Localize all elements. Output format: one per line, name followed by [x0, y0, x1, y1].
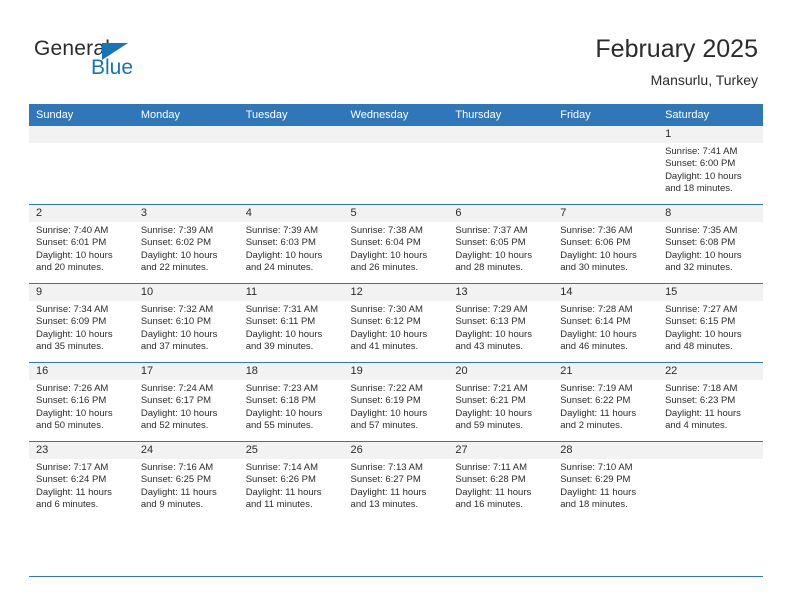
weekday-header-thursday: Thursday — [448, 104, 553, 126]
daylight-text-line1: Daylight: 10 hours — [560, 250, 652, 262]
day-number: 9 — [29, 284, 134, 301]
day-details: Sunrise: 7:29 AMSunset: 6:13 PMDaylight:… — [448, 301, 553, 354]
day-cell-inner — [448, 126, 553, 204]
sunrise-text: Sunrise: 7:19 AM — [560, 383, 652, 395]
calendar-week-row: 23Sunrise: 7:17 AMSunset: 6:24 PMDayligh… — [29, 442, 763, 521]
sunrise-text: Sunrise: 7:26 AM — [36, 383, 128, 395]
calendar-day-cell[interactable]: 4Sunrise: 7:39 AMSunset: 6:03 PMDaylight… — [239, 205, 344, 284]
daylight-text-line1: Daylight: 10 hours — [455, 408, 547, 420]
sunrise-text: Sunrise: 7:38 AM — [351, 225, 443, 237]
sunrise-text: Sunrise: 7:39 AM — [246, 225, 338, 237]
calendar-day-cell[interactable]: 11Sunrise: 7:31 AMSunset: 6:11 PMDayligh… — [239, 284, 344, 363]
day-number: 2 — [29, 205, 134, 222]
day-cell-inner: 13Sunrise: 7:29 AMSunset: 6:13 PMDayligh… — [448, 284, 553, 362]
day-details: Sunrise: 7:23 AMSunset: 6:18 PMDaylight:… — [239, 380, 344, 433]
daylight-text-line2: and 24 minutes. — [246, 262, 338, 274]
sunrise-text: Sunrise: 7:10 AM — [560, 462, 652, 474]
day-details: Sunrise: 7:36 AMSunset: 6:06 PMDaylight:… — [553, 222, 658, 275]
daylight-text-line1: Daylight: 10 hours — [665, 329, 757, 341]
daylight-text-line2: and 20 minutes. — [36, 262, 128, 274]
weekday-header-wednesday: Wednesday — [344, 104, 449, 126]
weekday-header-monday: Monday — [134, 104, 239, 126]
sunrise-text: Sunrise: 7:17 AM — [36, 462, 128, 474]
weekday-header-tuesday: Tuesday — [239, 104, 344, 126]
calendar-day-cell[interactable]: 15Sunrise: 7:27 AMSunset: 6:15 PMDayligh… — [658, 284, 763, 363]
sunset-text: Sunset: 6:17 PM — [141, 395, 233, 407]
day-cell-inner: 23Sunrise: 7:17 AMSunset: 6:24 PMDayligh… — [29, 442, 134, 520]
daylight-text-line2: and 9 minutes. — [141, 499, 233, 511]
day-cell-inner: 7Sunrise: 7:36 AMSunset: 6:06 PMDaylight… — [553, 205, 658, 283]
calendar-week-row: 9Sunrise: 7:34 AMSunset: 6:09 PMDaylight… — [29, 284, 763, 363]
day-cell-inner: 15Sunrise: 7:27 AMSunset: 6:15 PMDayligh… — [658, 284, 763, 362]
sunrise-text: Sunrise: 7:34 AM — [36, 304, 128, 316]
sunset-text: Sunset: 6:09 PM — [36, 316, 128, 328]
calendar-day-cell[interactable]: 22Sunrise: 7:18 AMSunset: 6:23 PMDayligh… — [658, 363, 763, 442]
calendar-day-cell[interactable]: 10Sunrise: 7:32 AMSunset: 6:10 PMDayligh… — [134, 284, 239, 363]
daylight-text-line2: and 16 minutes. — [455, 499, 547, 511]
calendar-day-cell[interactable]: 7Sunrise: 7:36 AMSunset: 6:06 PMDaylight… — [553, 205, 658, 284]
sunset-text: Sunset: 6:02 PM — [141, 237, 233, 249]
daylight-text-line1: Daylight: 10 hours — [351, 250, 443, 262]
sunrise-text: Sunrise: 7:13 AM — [351, 462, 443, 474]
day-details: Sunrise: 7:24 AMSunset: 6:17 PMDaylight:… — [134, 380, 239, 433]
weekday-header-saturday: Saturday — [658, 104, 763, 126]
sunset-text: Sunset: 6:04 PM — [351, 237, 443, 249]
sunrise-text: Sunrise: 7:18 AM — [665, 383, 757, 395]
daylight-text-line1: Daylight: 11 hours — [36, 487, 128, 499]
day-details: Sunrise: 7:19 AMSunset: 6:22 PMDaylight:… — [553, 380, 658, 433]
day-number — [134, 126, 239, 143]
sunset-text: Sunset: 6:16 PM — [36, 395, 128, 407]
daylight-text-line2: and 50 minutes. — [36, 420, 128, 432]
day-cell-inner: 12Sunrise: 7:30 AMSunset: 6:12 PMDayligh… — [344, 284, 449, 362]
sunset-text: Sunset: 6:28 PM — [455, 474, 547, 486]
daylight-text-line2: and 35 minutes. — [36, 341, 128, 353]
day-cell-inner: 18Sunrise: 7:23 AMSunset: 6:18 PMDayligh… — [239, 363, 344, 441]
day-details: Sunrise: 7:16 AMSunset: 6:25 PMDaylight:… — [134, 459, 239, 512]
calendar-day-cell[interactable]: 13Sunrise: 7:29 AMSunset: 6:13 PMDayligh… — [448, 284, 553, 363]
sunset-text: Sunset: 6:25 PM — [141, 474, 233, 486]
day-number: 12 — [344, 284, 449, 301]
calendar-header-row: Sunday Monday Tuesday Wednesday Thursday… — [29, 104, 763, 126]
sunrise-text: Sunrise: 7:16 AM — [141, 462, 233, 474]
day-details: Sunrise: 7:28 AMSunset: 6:14 PMDaylight:… — [553, 301, 658, 354]
calendar-day-cell[interactable]: 2Sunrise: 7:40 AMSunset: 6:01 PMDaylight… — [29, 205, 134, 284]
day-details: Sunrise: 7:18 AMSunset: 6:23 PMDaylight:… — [658, 380, 763, 433]
day-number — [448, 126, 553, 143]
calendar-day-cell[interactable]: 24Sunrise: 7:16 AMSunset: 6:25 PMDayligh… — [134, 442, 239, 521]
daylight-text-line2: and 4 minutes. — [665, 420, 757, 432]
sunrise-text: Sunrise: 7:39 AM — [141, 225, 233, 237]
calendar-week-row: 2Sunrise: 7:40 AMSunset: 6:01 PMDaylight… — [29, 205, 763, 284]
calendar-day-cell[interactable]: 28Sunrise: 7:10 AMSunset: 6:29 PMDayligh… — [553, 442, 658, 521]
weekday-header-sunday: Sunday — [29, 104, 134, 126]
daylight-text-line2: and 22 minutes. — [141, 262, 233, 274]
calendar-day-cell-empty — [239, 126, 344, 205]
daylight-text-line2: and 41 minutes. — [351, 341, 443, 353]
day-details: Sunrise: 7:26 AMSunset: 6:16 PMDaylight:… — [29, 380, 134, 433]
calendar-bottom-rule — [29, 576, 763, 577]
daylight-text-line1: Daylight: 10 hours — [36, 250, 128, 262]
day-cell-inner: 16Sunrise: 7:26 AMSunset: 6:16 PMDayligh… — [29, 363, 134, 441]
day-number — [29, 126, 134, 143]
day-cell-inner: 27Sunrise: 7:11 AMSunset: 6:28 PMDayligh… — [448, 442, 553, 520]
day-details: Sunrise: 7:34 AMSunset: 6:09 PMDaylight:… — [29, 301, 134, 354]
day-cell-inner: 2Sunrise: 7:40 AMSunset: 6:01 PMDaylight… — [29, 205, 134, 283]
daylight-text-line2: and 18 minutes. — [665, 183, 757, 195]
day-cell-inner: 3Sunrise: 7:39 AMSunset: 6:02 PMDaylight… — [134, 205, 239, 283]
day-number: 28 — [553, 442, 658, 459]
daylight-text-line1: Daylight: 11 hours — [560, 408, 652, 420]
daylight-text-line2: and 46 minutes. — [560, 341, 652, 353]
day-cell-inner: 5Sunrise: 7:38 AMSunset: 6:04 PMDaylight… — [344, 205, 449, 283]
day-cell-inner: 22Sunrise: 7:18 AMSunset: 6:23 PMDayligh… — [658, 363, 763, 441]
sunrise-text: Sunrise: 7:32 AM — [141, 304, 233, 316]
day-cell-inner: 24Sunrise: 7:16 AMSunset: 6:25 PMDayligh… — [134, 442, 239, 520]
day-cell-inner: 8Sunrise: 7:35 AMSunset: 6:08 PMDaylight… — [658, 205, 763, 283]
daylight-text-line2: and 57 minutes. — [351, 420, 443, 432]
sunrise-text: Sunrise: 7:40 AM — [36, 225, 128, 237]
daylight-text-line1: Daylight: 11 hours — [455, 487, 547, 499]
calendar-body: 1Sunrise: 7:41 AMSunset: 6:00 PMDaylight… — [29, 126, 763, 520]
day-cell-inner — [344, 126, 449, 204]
day-number: 1 — [658, 126, 763, 143]
calendar-day-cell[interactable]: 27Sunrise: 7:11 AMSunset: 6:28 PMDayligh… — [448, 442, 553, 521]
daylight-text-line1: Daylight: 10 hours — [141, 408, 233, 420]
sunset-text: Sunset: 6:14 PM — [560, 316, 652, 328]
daylight-text-line1: Daylight: 10 hours — [351, 408, 443, 420]
day-number: 26 — [344, 442, 449, 459]
day-number: 19 — [344, 363, 449, 380]
day-details: Sunrise: 7:21 AMSunset: 6:21 PMDaylight:… — [448, 380, 553, 433]
calendar-day-cell-empty — [553, 126, 658, 205]
day-details: Sunrise: 7:17 AMSunset: 6:24 PMDaylight:… — [29, 459, 134, 512]
page-subtitle-location: Mansurlu, Turkey — [595, 70, 758, 90]
sunrise-text: Sunrise: 7:11 AM — [455, 462, 547, 474]
day-details: Sunrise: 7:14 AMSunset: 6:26 PMDaylight:… — [239, 459, 344, 512]
day-number: 24 — [134, 442, 239, 459]
daylight-text-line2: and 26 minutes. — [351, 262, 443, 274]
day-number: 25 — [239, 442, 344, 459]
sunrise-text: Sunrise: 7:23 AM — [246, 383, 338, 395]
daylight-text-line2: and 37 minutes. — [141, 341, 233, 353]
daylight-text-line1: Daylight: 10 hours — [246, 329, 338, 341]
calendar-day-cell[interactable]: 18Sunrise: 7:23 AMSunset: 6:18 PMDayligh… — [239, 363, 344, 442]
sunrise-text: Sunrise: 7:37 AM — [455, 225, 547, 237]
day-number — [344, 126, 449, 143]
daylight-text-line1: Daylight: 10 hours — [665, 250, 757, 262]
daylight-text-line2: and 6 minutes. — [36, 499, 128, 511]
daylight-text-line1: Daylight: 10 hours — [351, 329, 443, 341]
sunset-text: Sunset: 6:06 PM — [560, 237, 652, 249]
day-details: Sunrise: 7:41 AMSunset: 6:00 PMDaylight:… — [658, 143, 763, 196]
day-number: 16 — [29, 363, 134, 380]
sunset-text: Sunset: 6:27 PM — [351, 474, 443, 486]
day-cell-inner: 28Sunrise: 7:10 AMSunset: 6:29 PMDayligh… — [553, 442, 658, 520]
day-number — [553, 126, 658, 143]
sunrise-text: Sunrise: 7:21 AM — [455, 383, 547, 395]
daylight-text-line2: and 30 minutes. — [560, 262, 652, 274]
sunset-text: Sunset: 6:26 PM — [246, 474, 338, 486]
sunset-text: Sunset: 6:22 PM — [560, 395, 652, 407]
daylight-text-line1: Daylight: 10 hours — [560, 329, 652, 341]
calendar-day-cell[interactable]: 9Sunrise: 7:34 AMSunset: 6:09 PMDaylight… — [29, 284, 134, 363]
day-number: 8 — [658, 205, 763, 222]
sunrise-text: Sunrise: 7:22 AM — [351, 383, 443, 395]
day-number: 10 — [134, 284, 239, 301]
day-details: Sunrise: 7:22 AMSunset: 6:19 PMDaylight:… — [344, 380, 449, 433]
calendar-week-row: 16Sunrise: 7:26 AMSunset: 6:16 PMDayligh… — [29, 363, 763, 442]
day-details: Sunrise: 7:37 AMSunset: 6:05 PMDaylight:… — [448, 222, 553, 275]
day-number: 4 — [239, 205, 344, 222]
day-details: Sunrise: 7:31 AMSunset: 6:11 PMDaylight:… — [239, 301, 344, 354]
day-details: Sunrise: 7:38 AMSunset: 6:04 PMDaylight:… — [344, 222, 449, 275]
sunset-text: Sunset: 6:15 PM — [665, 316, 757, 328]
logo-text-blue: Blue — [91, 57, 133, 79]
day-cell-inner — [134, 126, 239, 204]
sunrise-text: Sunrise: 7:41 AM — [665, 146, 757, 158]
sunset-text: Sunset: 6:11 PM — [246, 316, 338, 328]
sunrise-text: Sunrise: 7:35 AM — [665, 225, 757, 237]
daylight-text-line1: Daylight: 10 hours — [141, 329, 233, 341]
calendar-day-cell[interactable]: 1Sunrise: 7:41 AMSunset: 6:00 PMDaylight… — [658, 126, 763, 205]
day-details: Sunrise: 7:32 AMSunset: 6:10 PMDaylight:… — [134, 301, 239, 354]
daylight-text-line1: Daylight: 11 hours — [665, 408, 757, 420]
sunset-text: Sunset: 6:21 PM — [455, 395, 547, 407]
day-details: Sunrise: 7:39 AMSunset: 6:03 PMDaylight:… — [239, 222, 344, 275]
day-number: 6 — [448, 205, 553, 222]
sunset-text: Sunset: 6:13 PM — [455, 316, 547, 328]
day-number: 7 — [553, 205, 658, 222]
calendar-day-cell-empty — [29, 126, 134, 205]
calendar-day-cell[interactable]: 16Sunrise: 7:26 AMSunset: 6:16 PMDayligh… — [29, 363, 134, 442]
sunset-text: Sunset: 6:08 PM — [665, 237, 757, 249]
day-number: 15 — [658, 284, 763, 301]
day-details: Sunrise: 7:11 AMSunset: 6:28 PMDaylight:… — [448, 459, 553, 512]
day-cell-inner: 19Sunrise: 7:22 AMSunset: 6:19 PMDayligh… — [344, 363, 449, 441]
weekday-header-friday: Friday — [553, 104, 658, 126]
day-details: Sunrise: 7:39 AMSunset: 6:02 PMDaylight:… — [134, 222, 239, 275]
day-number: 14 — [553, 284, 658, 301]
daylight-text-line2: and 48 minutes. — [665, 341, 757, 353]
day-details: Sunrise: 7:10 AMSunset: 6:29 PMDaylight:… — [553, 459, 658, 512]
daylight-text-line1: Daylight: 11 hours — [246, 487, 338, 499]
daylight-text-line1: Daylight: 10 hours — [455, 329, 547, 341]
sunrise-text: Sunrise: 7:29 AM — [455, 304, 547, 316]
day-cell-inner: 10Sunrise: 7:32 AMSunset: 6:10 PMDayligh… — [134, 284, 239, 362]
daylight-text-line1: Daylight: 10 hours — [665, 171, 757, 183]
calendar-day-cell[interactable]: 8Sunrise: 7:35 AMSunset: 6:08 PMDaylight… — [658, 205, 763, 284]
calendar-day-cell[interactable]: 6Sunrise: 7:37 AMSunset: 6:05 PMDaylight… — [448, 205, 553, 284]
daylight-text-line1: Daylight: 10 hours — [36, 408, 128, 420]
daylight-text-line1: Daylight: 11 hours — [141, 487, 233, 499]
sunrise-text: Sunrise: 7:31 AM — [246, 304, 338, 316]
daylight-text-line2: and 13 minutes. — [351, 499, 443, 511]
day-number: 3 — [134, 205, 239, 222]
sunset-text: Sunset: 6:10 PM — [141, 316, 233, 328]
daylight-text-line1: Daylight: 10 hours — [455, 250, 547, 262]
day-number: 22 — [658, 363, 763, 380]
day-cell-inner — [29, 126, 134, 204]
day-number: 11 — [239, 284, 344, 301]
day-cell-inner — [658, 442, 763, 520]
day-cell-inner — [239, 126, 344, 204]
calendar-day-cell[interactable]: 5Sunrise: 7:38 AMSunset: 6:04 PMDaylight… — [344, 205, 449, 284]
day-number: 21 — [553, 363, 658, 380]
day-number — [239, 126, 344, 143]
day-details: Sunrise: 7:35 AMSunset: 6:08 PMDaylight:… — [658, 222, 763, 275]
daylight-text-line2: and 55 minutes. — [246, 420, 338, 432]
day-cell-inner: 25Sunrise: 7:14 AMSunset: 6:26 PMDayligh… — [239, 442, 344, 520]
sunset-text: Sunset: 6:00 PM — [665, 158, 757, 170]
day-cell-inner: 20Sunrise: 7:21 AMSunset: 6:21 PMDayligh… — [448, 363, 553, 441]
sunrise-text: Sunrise: 7:36 AM — [560, 225, 652, 237]
calendar-day-cell[interactable]: 14Sunrise: 7:28 AMSunset: 6:14 PMDayligh… — [553, 284, 658, 363]
day-cell-inner: 4Sunrise: 7:39 AMSunset: 6:03 PMDaylight… — [239, 205, 344, 283]
calendar-page: General Blue February 2025 Mansurlu, Tur… — [0, 0, 792, 612]
day-details: Sunrise: 7:30 AMSunset: 6:12 PMDaylight:… — [344, 301, 449, 354]
daylight-text-line2: and 2 minutes. — [560, 420, 652, 432]
sunset-text: Sunset: 6:12 PM — [351, 316, 443, 328]
page-header: General Blue February 2025 Mansurlu, Tur… — [0, 0, 792, 102]
day-number — [658, 442, 763, 459]
day-cell-inner: 17Sunrise: 7:24 AMSunset: 6:17 PMDayligh… — [134, 363, 239, 441]
day-cell-inner — [553, 126, 658, 204]
day-details: Sunrise: 7:13 AMSunset: 6:27 PMDaylight:… — [344, 459, 449, 512]
sunrise-text: Sunrise: 7:30 AM — [351, 304, 443, 316]
calendar-day-cell-empty — [448, 126, 553, 205]
sunset-text: Sunset: 6:24 PM — [36, 474, 128, 486]
generalblue-logo[interactable]: General Blue — [34, 38, 174, 84]
day-details: Sunrise: 7:40 AMSunset: 6:01 PMDaylight:… — [29, 222, 134, 275]
day-number: 23 — [29, 442, 134, 459]
day-cell-inner: 6Sunrise: 7:37 AMSunset: 6:05 PMDaylight… — [448, 205, 553, 283]
day-number: 18 — [239, 363, 344, 380]
sunrise-text: Sunrise: 7:14 AM — [246, 462, 338, 474]
calendar-day-cell[interactable]: 25Sunrise: 7:14 AMSunset: 6:26 PMDayligh… — [239, 442, 344, 521]
title-block: February 2025 Mansurlu, Turkey — [595, 34, 758, 90]
calendar-week-row: 1Sunrise: 7:41 AMSunset: 6:00 PMDaylight… — [29, 126, 763, 205]
calendar-table: Sunday Monday Tuesday Wednesday Thursday… — [29, 104, 763, 520]
calendar-day-cell[interactable]: 21Sunrise: 7:19 AMSunset: 6:22 PMDayligh… — [553, 363, 658, 442]
daylight-text-line2: and 28 minutes. — [455, 262, 547, 274]
sunset-text: Sunset: 6:01 PM — [36, 237, 128, 249]
daylight-text-line2: and 43 minutes. — [455, 341, 547, 353]
calendar-grid: Sunday Monday Tuesday Wednesday Thursday… — [29, 104, 763, 520]
sunrise-text: Sunrise: 7:24 AM — [141, 383, 233, 395]
day-number: 20 — [448, 363, 553, 380]
calendar-day-cell[interactable]: 3Sunrise: 7:39 AMSunset: 6:02 PMDaylight… — [134, 205, 239, 284]
daylight-text-line1: Daylight: 10 hours — [36, 329, 128, 341]
calendar-day-cell-empty — [134, 126, 239, 205]
calendar-day-cell-empty — [344, 126, 449, 205]
day-details: Sunrise: 7:27 AMSunset: 6:15 PMDaylight:… — [658, 301, 763, 354]
daylight-text-line1: Daylight: 11 hours — [560, 487, 652, 499]
weekday-header-row: Sunday Monday Tuesday Wednesday Thursday… — [29, 104, 763, 126]
daylight-text-line2: and 59 minutes. — [455, 420, 547, 432]
page-title: February 2025 — [595, 34, 758, 64]
calendar-day-cell[interactable]: 20Sunrise: 7:21 AMSunset: 6:21 PMDayligh… — [448, 363, 553, 442]
day-cell-inner: 11Sunrise: 7:31 AMSunset: 6:11 PMDayligh… — [239, 284, 344, 362]
sunset-text: Sunset: 6:23 PM — [665, 395, 757, 407]
sunset-text: Sunset: 6:18 PM — [246, 395, 338, 407]
day-number: 13 — [448, 284, 553, 301]
sunrise-text: Sunrise: 7:27 AM — [665, 304, 757, 316]
day-cell-inner: 9Sunrise: 7:34 AMSunset: 6:09 PMDaylight… — [29, 284, 134, 362]
daylight-text-line2: and 39 minutes. — [246, 341, 338, 353]
calendar-day-cell[interactable]: 17Sunrise: 7:24 AMSunset: 6:17 PMDayligh… — [134, 363, 239, 442]
sunset-text: Sunset: 6:05 PM — [455, 237, 547, 249]
daylight-text-line1: Daylight: 10 hours — [246, 408, 338, 420]
sunset-text: Sunset: 6:29 PM — [560, 474, 652, 486]
calendar-day-cell[interactable]: 23Sunrise: 7:17 AMSunset: 6:24 PMDayligh… — [29, 442, 134, 521]
daylight-text-line2: and 32 minutes. — [665, 262, 757, 274]
calendar-day-cell[interactable]: 19Sunrise: 7:22 AMSunset: 6:19 PMDayligh… — [344, 363, 449, 442]
day-cell-inner: 26Sunrise: 7:13 AMSunset: 6:27 PMDayligh… — [344, 442, 449, 520]
sunset-text: Sunset: 6:19 PM — [351, 395, 443, 407]
daylight-text-line2: and 52 minutes. — [141, 420, 233, 432]
calendar-day-cell[interactable]: 12Sunrise: 7:30 AMSunset: 6:12 PMDayligh… — [344, 284, 449, 363]
day-number: 27 — [448, 442, 553, 459]
sunset-text: Sunset: 6:03 PM — [246, 237, 338, 249]
day-cell-inner: 14Sunrise: 7:28 AMSunset: 6:14 PMDayligh… — [553, 284, 658, 362]
day-cell-inner: 1Sunrise: 7:41 AMSunset: 6:00 PMDaylight… — [658, 126, 763, 204]
daylight-text-line1: Daylight: 11 hours — [351, 487, 443, 499]
daylight-text-line1: Daylight: 10 hours — [141, 250, 233, 262]
calendar-day-cell-empty — [658, 442, 763, 521]
sunrise-text: Sunrise: 7:28 AM — [560, 304, 652, 316]
calendar-day-cell[interactable]: 26Sunrise: 7:13 AMSunset: 6:27 PMDayligh… — [344, 442, 449, 521]
daylight-text-line2: and 11 minutes. — [246, 499, 338, 511]
day-number: 17 — [134, 363, 239, 380]
day-number: 5 — [344, 205, 449, 222]
day-cell-inner: 21Sunrise: 7:19 AMSunset: 6:22 PMDayligh… — [553, 363, 658, 441]
daylight-text-line2: and 18 minutes. — [560, 499, 652, 511]
daylight-text-line1: Daylight: 10 hours — [246, 250, 338, 262]
